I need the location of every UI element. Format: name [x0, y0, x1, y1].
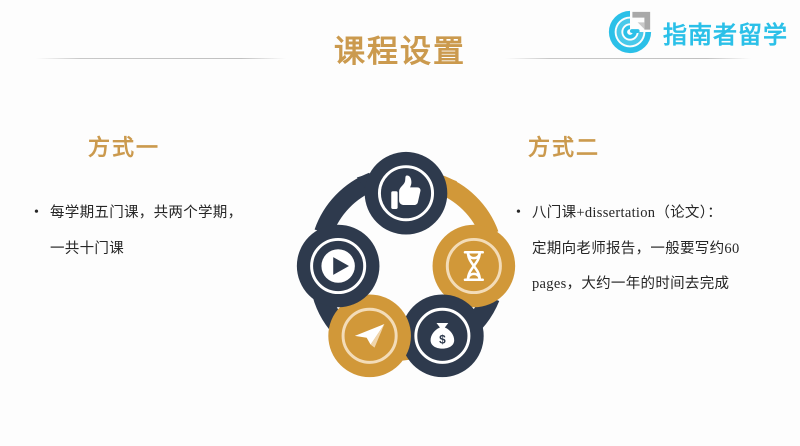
cycle-diagram-graphic: $	[288, 148, 524, 384]
column-heading: 方式一	[30, 130, 298, 162]
svg-text:$: $	[439, 333, 446, 347]
cycle-node-left	[297, 225, 380, 308]
list-item: 每学期五门课，共两个学期， 一共十门课	[30, 196, 298, 267]
bullet-line: 一共十门课	[50, 232, 298, 268]
brand-logo-text: 指南者留学	[663, 15, 788, 50]
cycle-node-bottom-right: $	[401, 295, 484, 378]
cycle-diagram: $	[288, 148, 524, 384]
guide-circle-logo-icon	[606, 8, 654, 56]
bullet-line: 每学期五门课，共两个学期，	[50, 196, 298, 232]
bullet-list: 八门课+dissertation（论文）： 定期向老师报告，一般要写约60 pa…	[512, 196, 792, 303]
slide-header: 课程设置 指南者留学	[0, 0, 800, 80]
play-button-icon	[321, 249, 354, 282]
list-item: 八门课+dissertation（论文）： 定期向老师报告，一般要写约60 pa…	[512, 196, 792, 303]
bullet-line: 定期向老师报告，一般要写约60	[532, 232, 792, 268]
column-method-two: 方式二 八门课+dissertation（论文）： 定期向老师报告，一般要写约6…	[512, 130, 792, 303]
column-method-one: 方式一 每学期五门课，共两个学期， 一共十门课	[30, 130, 298, 267]
column-heading: 方式二	[512, 130, 792, 162]
cycle-node-top	[365, 152, 448, 235]
bullet-line: pages，大约一年的时间去完成	[532, 267, 792, 303]
brand-logo: 指南者留学	[606, 8, 788, 56]
slide-canvas: 课程设置 指南者留学 方式一 每学期五门课，共两个学期， 一共十门课 方式二	[0, 0, 800, 446]
bullet-list: 每学期五门课，共两个学期， 一共十门课	[30, 196, 298, 267]
cycle-nodes: $	[297, 152, 515, 377]
bullet-line: 八门课+dissertation（论文）：	[532, 196, 792, 232]
